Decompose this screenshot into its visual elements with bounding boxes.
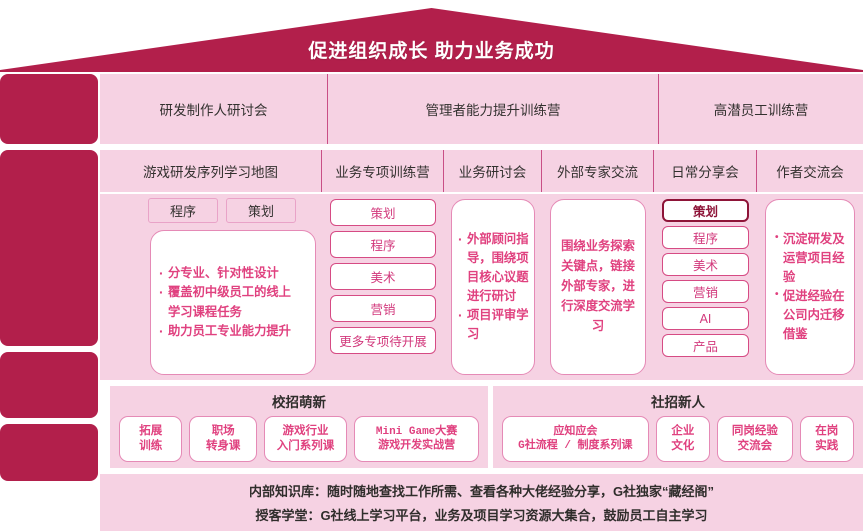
social-item-0-line2: G社流程 / 制度系列课 — [518, 440, 632, 452]
col5-item-1-label: 程序 — [693, 228, 718, 247]
col5-item-3-label: 营销 — [693, 282, 718, 301]
middle-section: 初级 中级 程序 策划 分专业、针对性设计 覆盖初中级员工的线上 学习课程任务 — [100, 194, 863, 380]
column1-tags: 程序 策划 — [148, 198, 296, 223]
cell-row2-2-label: 业务研讨会 — [459, 161, 527, 181]
col5-item-0[interactable]: 策划 — [662, 199, 749, 222]
learning-system-diagram: 促进组织成长 助力业务成功 研发制作人研讨会 管理者能力提升训练营 高潜员工训练… — [0, 0, 863, 531]
col5-item-4-label: AI — [700, 312, 712, 326]
col5-item-2-label: 美术 — [693, 255, 718, 274]
col2-item-1-label: 程序 — [370, 235, 395, 254]
col5-item-4[interactable]: AI — [662, 307, 749, 330]
column-author-exchange: 沉淀研发及运营项目经验 促进经验在公司内迁移借鉴 — [757, 194, 863, 380]
tag-cehua[interactable]: 策划 — [226, 198, 296, 223]
row-programs-top: 研发制作人研讨会 管理者能力提升训练营 高潜员工训练营 — [100, 74, 863, 144]
column1-description-box: 分专业、针对性设计 覆盖初中级员工的线上 学习课程任务 助力员工专业能力提升 — [150, 230, 316, 375]
campus-item-0-line1: 拓展 — [139, 425, 162, 437]
col2-item-0[interactable]: 策划 — [330, 199, 436, 226]
col5-item-3[interactable]: 营销 — [662, 280, 749, 303]
column-daily-share: 策划 程序 美术 营销 AI 产品 — [654, 194, 757, 380]
tag-cehua-label: 策划 — [248, 201, 274, 220]
spine-block-2 — [0, 150, 98, 346]
social-item-2-line1: 同岗经验 — [732, 425, 778, 437]
cell-row2-3-label: 外部专家交流 — [557, 161, 638, 181]
col2-item-4[interactable]: 更多专项待开展 — [330, 327, 436, 354]
column-learning-map: 程序 策划 分专业、针对性设计 覆盖初中级员工的线上 学习课程任务 助力员工专业… — [100, 194, 322, 380]
social-item-1-line2: 文化 — [671, 440, 694, 452]
spine-block-1 — [0, 74, 98, 144]
column3-bullet-list: 外部顾问指导，围绕项目核心议题进行研讨 项目评审学习 — [452, 230, 534, 344]
group-campus-title: 校招萌新 — [110, 386, 488, 411]
cell-row1-1[interactable]: 管理者能力提升训练营 — [328, 74, 659, 144]
col5-item-2[interactable]: 美术 — [662, 253, 749, 276]
column1-bullet-list: 分专业、针对性设计 覆盖初中级员工的线上 学习课程任务 助力员工专业能力提升 — [151, 264, 297, 340]
column-business-seminar: 外部顾问指导，围绕项目核心议题进行研讨 项目评审学习 — [444, 194, 542, 380]
social-item-0[interactable]: 应知应会 G社流程 / 制度系列课 — [502, 416, 649, 462]
campus-item-3-line2: 游戏开发实战营 — [378, 440, 455, 452]
col5-item-1[interactable]: 程序 — [662, 226, 749, 249]
column6-bullet-list: 沉淀研发及运营项目经验 促进经验在公司内迁移借鉴 — [766, 230, 854, 344]
col5-item-0-label: 策划 — [693, 201, 718, 220]
row-programs-second: 游戏研发序列学习地图 业务专项训练营 业务研讨会 外部专家交流 日常分享会 作者… — [100, 150, 863, 192]
footer-bar: 内部知识库：随时随地查找工作所需、查看各种大佬经验分享，G社独家“藏经阁” 授客… — [100, 474, 863, 531]
cell-row2-0[interactable]: 游戏研发序列学习地图 — [100, 150, 322, 192]
social-item-3-line2: 实践 — [815, 440, 838, 452]
column1-bullet-0: 分专业、针对性设计 — [159, 264, 291, 283]
column-business-camp: 策划 程序 美术 营销 更多专项待开展 — [322, 194, 444, 380]
column1-bullet-1: 覆盖初中级员工的线上 学习课程任务 — [159, 283, 291, 321]
left-spine — [0, 74, 98, 481]
cell-row1-2[interactable]: 高潜员工训练营 — [659, 74, 863, 144]
cell-row1-0-label: 研发制作人研讨会 — [160, 99, 268, 119]
cell-row2-2[interactable]: 业务研讨会 — [444, 150, 542, 192]
column4-description-box: 围绕业务探索关键点，链接外部专家，进行深度交流学习 — [550, 199, 646, 375]
group-social-items: 应知应会 G社流程 / 制度系列课 企业 文化 同岗经验 交流会 在岗 实践 — [493, 411, 863, 462]
col2-item-3-label: 营销 — [370, 299, 395, 318]
col2-item-2-label: 美术 — [370, 267, 395, 286]
column-external-expert: 围绕业务探索关键点，链接外部专家，进行深度交流学习 — [542, 194, 654, 380]
cell-row2-3[interactable]: 外部专家交流 — [542, 150, 654, 192]
campus-item-1-line2: 转身课 — [206, 440, 241, 452]
cell-row1-2-label: 高潜员工训练营 — [714, 99, 809, 119]
campus-item-2-line1: 游戏行业 — [283, 425, 329, 437]
column3-bullet-0: 外部顾问指导，围绕项目核心议题进行研讨 — [458, 230, 530, 306]
cell-row2-5-label: 作者交流会 — [776, 161, 844, 181]
column6-bullet-0: 沉淀研发及运营项目经验 — [774, 230, 850, 287]
col2-item-0-label: 策划 — [370, 203, 395, 222]
cell-row2-1-label: 业务专项训练营 — [335, 161, 430, 181]
column4-text: 围绕业务探索关键点，链接外部专家，进行深度交流学习 — [551, 237, 645, 337]
group-campus-recruit: 校招萌新 拓展 训练 职场 转身课 游戏行业 入门系列课 Mini Game大赛… — [110, 386, 488, 468]
cell-row2-1[interactable]: 业务专项训练营 — [322, 150, 444, 192]
social-item-2-line2: 交流会 — [738, 440, 773, 452]
column3-bullet-1: 项目评审学习 — [458, 306, 530, 344]
campus-item-0[interactable]: 拓展 训练 — [119, 416, 182, 462]
campus-item-3[interactable]: Mini Game大赛 游戏开发实战营 — [354, 416, 479, 462]
column1-bullet-2: 助力员工专业能力提升 — [159, 322, 291, 341]
social-item-2[interactable]: 同岗经验 交流会 — [717, 416, 793, 462]
cell-row2-0-label: 游戏研发序列学习地图 — [143, 161, 278, 181]
cell-row1-0[interactable]: 研发制作人研讨会 — [100, 74, 328, 144]
campus-item-1-line1: 职场 — [212, 425, 235, 437]
cell-row1-1-label: 管理者能力提升训练营 — [426, 99, 561, 119]
campus-item-3-line1: Mini Game大赛 — [376, 426, 457, 438]
col5-item-5-label: 产品 — [693, 336, 718, 355]
social-item-1-line1: 企业 — [671, 425, 694, 437]
col2-item-4-label: 更多专项待开展 — [339, 331, 427, 350]
social-item-3-line1: 在岗 — [815, 425, 838, 437]
social-item-0-line1: 应知应会 — [553, 426, 597, 438]
footer-line-1: 内部知识库：随时随地查找工作所需、查看各种大佬经验分享，G社独家“藏经阁” — [249, 481, 714, 500]
column2-list: 策划 程序 美术 营销 更多专项待开展 — [330, 199, 436, 354]
page-title: 促进组织成长 助力业务成功 — [0, 36, 863, 63]
spine-block-4 — [0, 424, 98, 481]
group-campus-items: 拓展 训练 职场 转身课 游戏行业 入门系列课 Mini Game大赛 游戏开发… — [110, 411, 488, 462]
column5-list: 策划 程序 美术 营销 AI 产品 — [662, 199, 749, 357]
social-item-1[interactable]: 企业 文化 — [656, 416, 710, 462]
tag-chengxu[interactable]: 程序 — [148, 198, 218, 223]
campus-item-1[interactable]: 职场 转身课 — [189, 416, 256, 462]
col2-item-2[interactable]: 美术 — [330, 263, 436, 290]
col2-item-1[interactable]: 程序 — [330, 231, 436, 258]
column6-bullet-1: 促进经验在公司内迁移借鉴 — [774, 287, 850, 344]
cell-row2-5[interactable]: 作者交流会 — [757, 150, 863, 192]
social-item-3[interactable]: 在岗 实践 — [800, 416, 854, 462]
col2-item-3[interactable]: 营销 — [330, 295, 436, 322]
footer-line-2: 授客学堂：G社线上学习平台，业务及项目学习资源大集合，鼓励员工自主学习 — [255, 505, 707, 524]
group-social-title: 社招新人 — [493, 386, 863, 411]
col5-item-5[interactable]: 产品 — [662, 334, 749, 357]
campus-item-2[interactable]: 游戏行业 入门系列课 — [264, 416, 347, 462]
campus-item-0-line2: 训练 — [139, 440, 162, 452]
group-social-recruit: 社招新人 应知应会 G社流程 / 制度系列课 企业 文化 同岗经验 交流会 在岗… — [493, 386, 863, 468]
column6-description-box: 沉淀研发及运营项目经验 促进经验在公司内迁移借鉴 — [765, 199, 855, 375]
spine-block-3 — [0, 352, 98, 418]
cell-row2-4[interactable]: 日常分享会 — [654, 150, 757, 192]
tag-chengxu-label: 程序 — [170, 201, 196, 220]
cell-row2-4-label: 日常分享会 — [671, 161, 739, 181]
column3-description-box: 外部顾问指导，围绕项目核心议题进行研讨 项目评审学习 — [451, 199, 535, 375]
campus-item-2-line2: 入门系列课 — [277, 440, 335, 452]
